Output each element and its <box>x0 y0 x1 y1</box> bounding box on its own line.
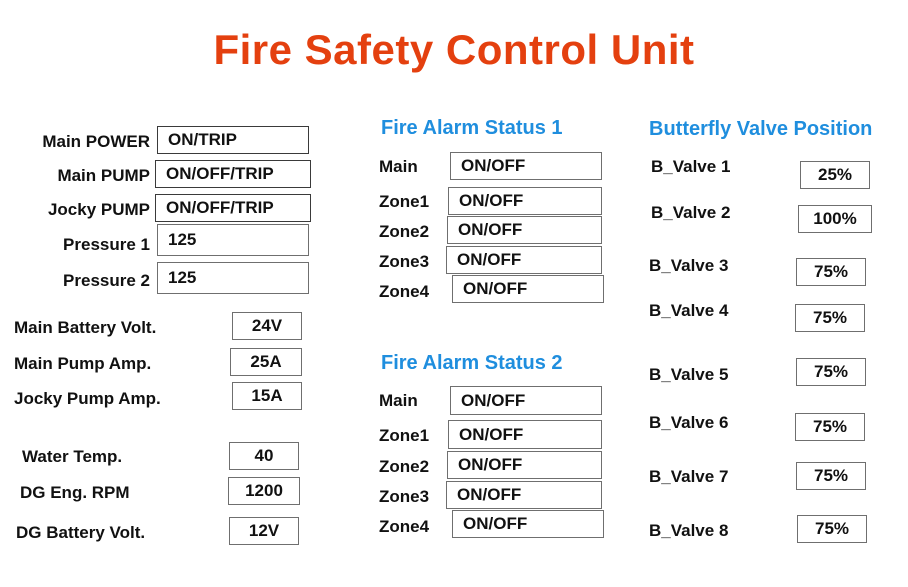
field-main-pump[interactable]: ON/OFF/TRIP <box>155 160 311 188</box>
label-alarm2-zone4: Zone4 <box>379 518 429 535</box>
field-b-valve-8[interactable]: 75% <box>797 515 867 543</box>
field-main-power[interactable]: ON/TRIP <box>157 126 309 154</box>
label-alarm2-main: Main <box>379 392 418 409</box>
field-water-temp[interactable]: 40 <box>229 442 299 470</box>
label-b-valve-3: B_Valve 3 <box>649 257 728 274</box>
field-pressure-2[interactable]: 125 <box>157 262 309 294</box>
field-alarm1-zone3[interactable]: ON/OFF <box>446 246 602 274</box>
field-b-valve-3[interactable]: 75% <box>796 258 866 286</box>
label-b-valve-2: B_Valve 2 <box>651 204 730 221</box>
label-b-valve-4: B_Valve 4 <box>649 302 728 319</box>
field-alarm1-zone4[interactable]: ON/OFF <box>452 275 604 303</box>
label-jocky-pump: Jocky PUMP <box>4 201 150 218</box>
label-b-valve-8: B_Valve 8 <box>649 522 728 539</box>
label-dg-battery-volt: DG Battery Volt. <box>16 524 145 541</box>
label-pressure-1: Pressure 1 <box>4 236 150 253</box>
field-alarm2-main[interactable]: ON/OFF <box>450 386 602 415</box>
label-alarm2-zone1: Zone1 <box>379 427 429 444</box>
label-main-pump-amp: Main Pump Amp. <box>14 355 151 372</box>
label-alarm2-zone3: Zone3 <box>379 488 429 505</box>
page-title: Fire Safety Control Unit <box>0 26 908 74</box>
label-jocky-pump-amp: Jocky Pump Amp. <box>14 390 161 407</box>
label-alarm2-zone2: Zone2 <box>379 458 429 475</box>
fire-safety-control-unit-panel: Fire Safety Control Unit Main POWER ON/T… <box>0 0 908 587</box>
field-b-valve-6[interactable]: 75% <box>795 413 865 441</box>
label-main-power: Main POWER <box>4 133 150 150</box>
label-main-battery-volt: Main Battery Volt. <box>14 319 156 336</box>
label-pressure-2: Pressure 2 <box>4 272 150 289</box>
heading-fire-alarm-status-2: Fire Alarm Status 2 <box>381 352 563 375</box>
field-pressure-1[interactable]: 125 <box>157 224 309 256</box>
field-b-valve-1[interactable]: 25% <box>800 161 870 189</box>
label-alarm1-zone2: Zone2 <box>379 223 429 240</box>
label-alarm1-zone3: Zone3 <box>379 253 429 270</box>
field-main-battery-volt[interactable]: 24V <box>232 312 302 340</box>
field-alarm2-zone1[interactable]: ON/OFF <box>448 420 602 449</box>
field-main-pump-amp[interactable]: 25A <box>230 348 302 376</box>
field-alarm1-main[interactable]: ON/OFF <box>450 152 602 180</box>
field-b-valve-4[interactable]: 75% <box>795 304 865 332</box>
heading-butterfly-valve-position: Butterfly Valve Position <box>649 118 872 141</box>
field-alarm2-zone2[interactable]: ON/OFF <box>447 451 602 479</box>
field-jocky-pump-amp[interactable]: 15A <box>232 382 302 410</box>
field-alarm2-zone3[interactable]: ON/OFF <box>446 481 602 509</box>
label-b-valve-5: B_Valve 5 <box>649 366 728 383</box>
field-b-valve-7[interactable]: 75% <box>796 462 866 490</box>
label-b-valve-6: B_Valve 6 <box>649 414 728 431</box>
field-jocky-pump[interactable]: ON/OFF/TRIP <box>155 194 311 222</box>
label-main-pump: Main PUMP <box>4 167 150 184</box>
heading-fire-alarm-status-1: Fire Alarm Status 1 <box>381 117 563 140</box>
field-b-valve-2[interactable]: 100% <box>798 205 872 233</box>
field-alarm1-zone1[interactable]: ON/OFF <box>448 187 602 215</box>
label-alarm1-zone4: Zone4 <box>379 283 429 300</box>
field-dg-eng-rpm[interactable]: 1200 <box>228 477 300 505</box>
field-alarm2-zone4[interactable]: ON/OFF <box>452 510 604 538</box>
label-alarm1-main: Main <box>379 158 418 175</box>
label-alarm1-zone1: Zone1 <box>379 193 429 210</box>
label-b-valve-1: B_Valve 1 <box>651 158 730 175</box>
label-dg-eng-rpm: DG Eng. RPM <box>20 484 130 501</box>
field-b-valve-5[interactable]: 75% <box>796 358 866 386</box>
label-b-valve-7: B_Valve 7 <box>649 468 728 485</box>
field-alarm1-zone2[interactable]: ON/OFF <box>447 216 602 244</box>
label-water-temp: Water Temp. <box>22 448 122 465</box>
field-dg-battery-volt[interactable]: 12V <box>229 517 299 545</box>
